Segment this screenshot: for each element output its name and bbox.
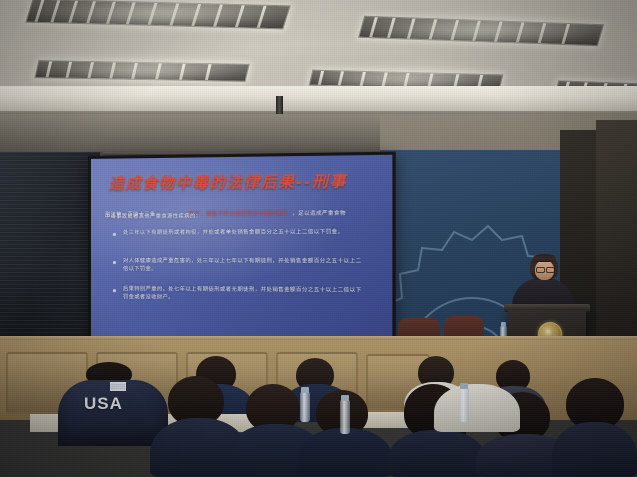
water-bottle [459,388,469,422]
water-bottle [340,400,350,434]
slide-bullet-text: 处三年以下有期徒刑或者拘役，并处或者单处销售金额百分之五十以上二倍以下罚金。 [123,228,366,237]
flag-patch-icon [110,382,126,391]
bottle-cap-icon [301,387,309,393]
water-bottle [300,392,310,422]
ceiling-soffit [0,86,637,114]
audience-shoulders [552,422,637,477]
usa-jacket-label: USA [84,394,123,414]
bottle-cap-icon [460,383,468,389]
speaker-glasses-icon [536,267,545,273]
audience-shoulders-light [434,384,520,432]
slide-bullet-marker [113,261,116,264]
projection-screen: 造成食物中毒的法律后果--刑事 刑法第一百四十三条 生产、销售不符合食品安全标准… [88,152,396,353]
bottle-cap-icon [501,322,506,327]
ceiling-shading [0,0,637,92]
speaker-fringe [533,254,556,262]
audience-shoulders [388,430,486,477]
slide-title: 造成食物中毒的法律后果--刑事 [109,170,374,194]
side-wall-dark [596,120,637,370]
slide-bullet-marker [113,289,116,292]
speaker-glasses-icon [546,267,555,273]
slide-bullet-text: 对人体健康造成严重危害的，处三年以上七年以下有期徒刑，并处销售金额百分之五十以上… [123,257,366,274]
slide-bullet-text: 后果特别严重的，处七年以上有期徒刑或者无期徒刑，并处销售金额百分之五十以上二倍以… [123,285,366,303]
screenshot-root: 造成食物中毒的法律后果--刑事 刑法第一百四十三条 生产、销售不符合食品安全标准… [0,0,637,477]
slide-intro-line-2: 中毒事故或者其他严重食源性疾病的： [105,211,377,221]
slide-bullet-marker [113,233,116,236]
bottle-cap-icon [341,395,349,401]
audience-shoulders [298,428,392,477]
window-reflection [0,152,100,348]
slide-content: 造成食物中毒的法律后果--刑事 刑法第一百四十三条 生产、销售不符合食品安全标准… [91,155,392,349]
